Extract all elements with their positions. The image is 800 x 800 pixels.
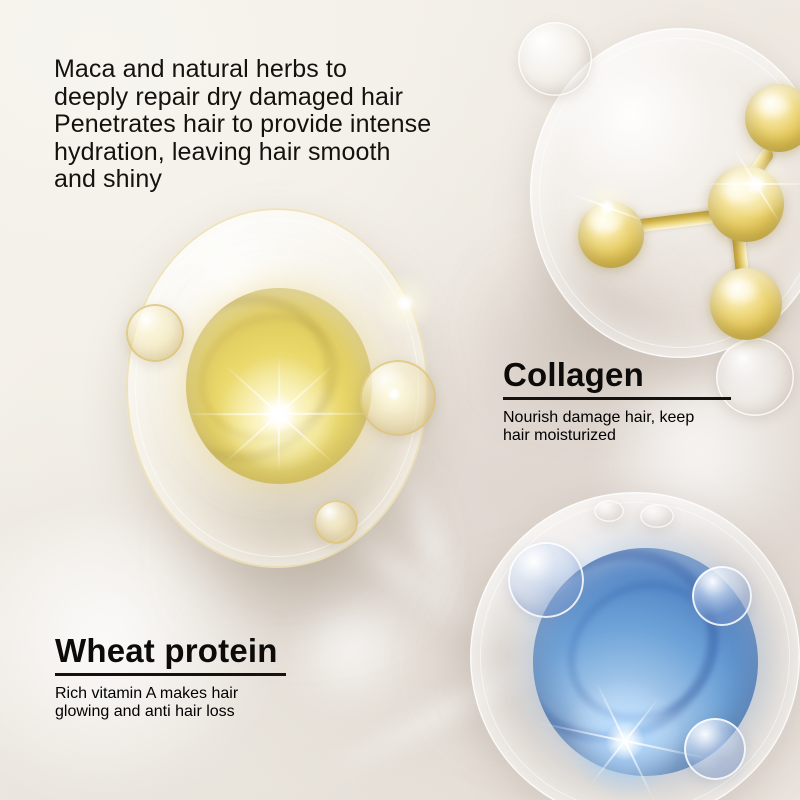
collagen-underline (503, 397, 731, 400)
wheat-micro-bubble-top (594, 500, 624, 522)
collagen-description-line-1: Nourish damage hair, keep (503, 409, 800, 427)
intro-line-1: Maca and natural herbs to (54, 56, 524, 84)
wheat-protein-underline (55, 673, 286, 676)
molecule-node-left (578, 202, 644, 268)
maca-golden-core (186, 288, 372, 484)
intro-paragraph: Maca and natural herbs to deeply repair … (54, 56, 524, 194)
molecule-node-topright (745, 84, 800, 152)
collagen-molecule (530, 28, 800, 358)
intro-line-2: deeply repair dry damaged hair (54, 84, 524, 112)
wheat-micro-bubble-top-2 (640, 504, 674, 528)
maca-satellite-bubble-left (126, 304, 184, 362)
wheat-protein-description-line-2: glowing and anti hair loss (55, 703, 375, 721)
wheat-satellite-bubble-topleft (508, 542, 584, 618)
product-ingredient-poster: Maca and natural herbs to deeply repair … (0, 0, 800, 800)
intro-line-5: and shiny (54, 166, 524, 194)
wheat-satellite-bubble-right (692, 566, 752, 626)
collagen-description-line-2: hair moisturized (503, 427, 800, 445)
maca-satellite-bubble-bottom (314, 500, 358, 544)
wheat-protein-description-line-1: Rich vitamin A makes hair (55, 685, 375, 703)
feature-wheat-protein: Wheat protein Rich vitamin A makes hair … (55, 632, 375, 730)
intro-line-4: hydration, leaving hair smooth (54, 139, 524, 167)
intro-line-3: Penetrates hair to provide intense (54, 111, 524, 139)
wheat-protein-title: Wheat protein (55, 632, 375, 670)
feature-collagen: Collagen Nourish damage hair, keep hair … (503, 356, 800, 454)
collagen-title: Collagen (503, 356, 800, 394)
maca-satellite-bubble-right (360, 360, 436, 436)
molecule-node-hub (708, 166, 784, 242)
wheat-satellite-bubble-bottomright (684, 718, 746, 780)
molecule-node-bottom (710, 268, 782, 340)
